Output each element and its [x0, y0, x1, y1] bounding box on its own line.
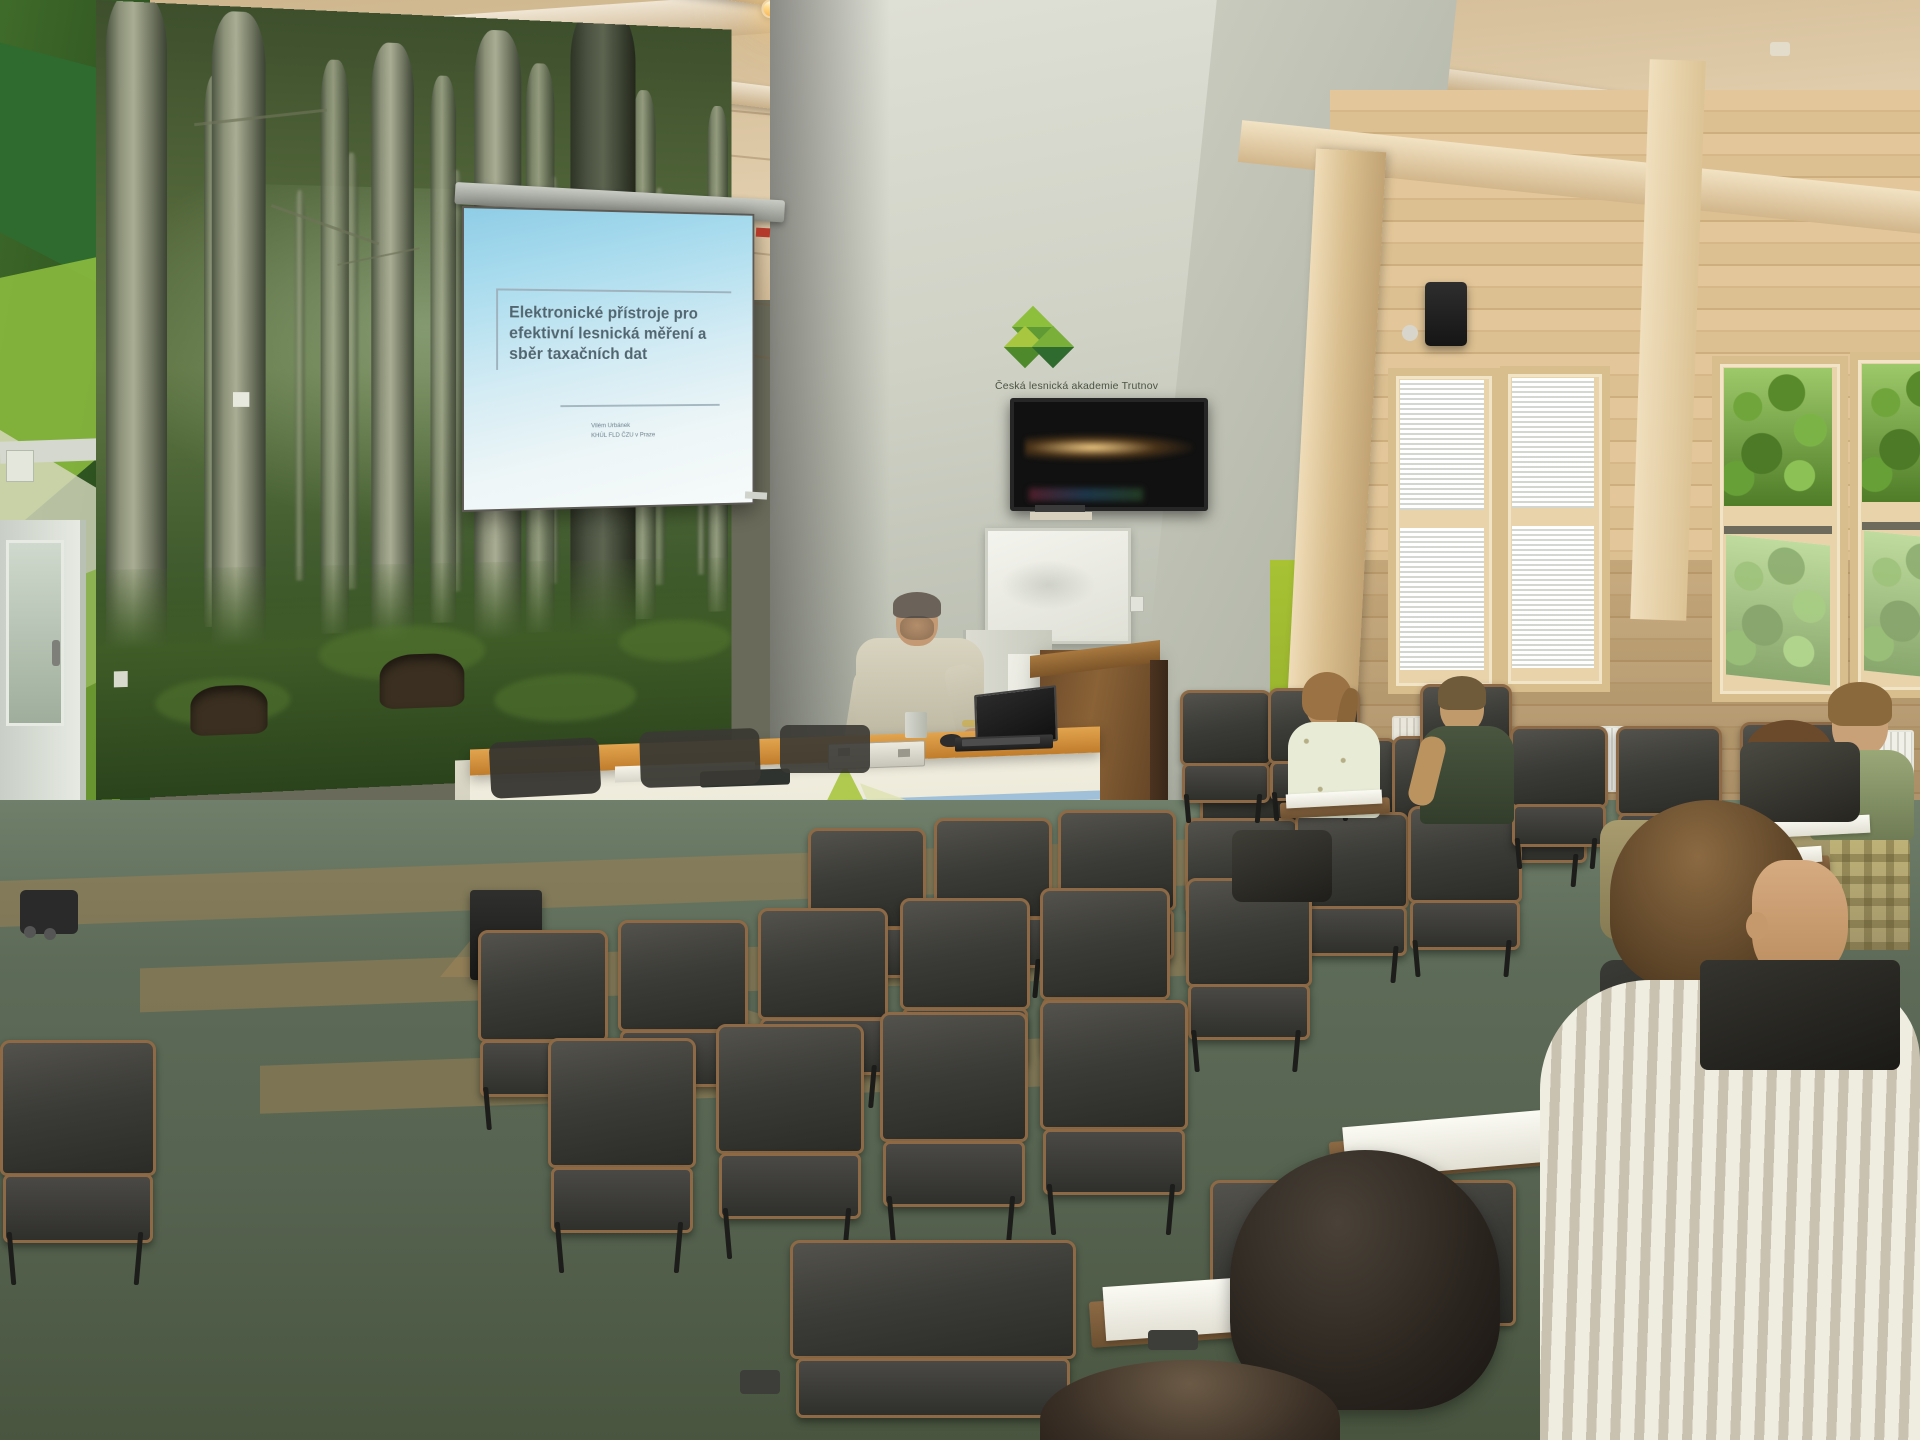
mural-white-mark — [114, 671, 128, 687]
case-latch — [898, 749, 910, 757]
forestry-academy-diamond-logo — [1010, 312, 1080, 370]
student-hair — [1438, 676, 1486, 710]
chair[interactable] — [1186, 878, 1306, 1068]
chair-seat — [883, 1141, 1025, 1207]
tv-screen-glow — [1025, 434, 1192, 461]
woman-hair — [1040, 1360, 1340, 1440]
chair-back — [1180, 690, 1272, 766]
ceiling-fixture-small — [1770, 42, 1790, 56]
slide-title-line-2: efektivní lesnická měření a — [509, 323, 739, 344]
chair-back — [1510, 726, 1608, 808]
woman-ear — [1746, 912, 1768, 940]
loudspeaker — [1425, 282, 1467, 346]
window-view-foliage — [1864, 531, 1920, 682]
chair-seat — [1297, 906, 1407, 956]
mural-tree-stump — [380, 653, 465, 710]
window-pane — [1862, 364, 1920, 502]
slide-rule — [496, 288, 732, 293]
window-view-foliage — [1726, 535, 1830, 686]
flat-screen-tv[interactable] — [1010, 398, 1208, 511]
drinking-cup — [905, 712, 927, 738]
floor-chair-frame — [780, 725, 870, 773]
chair-seat — [1188, 984, 1309, 1039]
chair-back — [880, 1012, 1028, 1142]
dark-equipment-case — [1700, 960, 1900, 1070]
wall-outlet — [1130, 596, 1144, 612]
tv-screen-glow-lower — [1029, 488, 1143, 501]
chair-back — [716, 1024, 864, 1154]
whiteboard-smudge — [1000, 560, 1096, 610]
presenter-hair — [893, 592, 941, 618]
lecture-hall-photograph: Elektronické přístroje pro efektivní les… — [0, 0, 1920, 1440]
window-blinds[interactable] — [1400, 380, 1484, 510]
wall-sign-text: Česká lesnická akademie Trutnov — [995, 380, 1195, 392]
chair[interactable] — [716, 1024, 858, 1254]
window-hinge-bar — [1862, 522, 1920, 530]
student-hair — [1828, 682, 1892, 726]
chair-back — [900, 898, 1030, 1010]
door-handle[interactable] — [52, 640, 60, 666]
window-pane — [1400, 380, 1484, 510]
chair-seat — [796, 1358, 1071, 1419]
slide-rule — [496, 288, 498, 370]
window-hinge-bar — [1724, 526, 1832, 534]
slide-title-line-1: Elektronické přístroje pro — [509, 303, 739, 325]
window-frame — [1500, 366, 1610, 692]
slide-title: Elektronické přístroje pro efektivní les… — [509, 303, 739, 365]
window-pane — [1724, 368, 1832, 506]
window-view-foliage — [1724, 368, 1832, 506]
window-blinds[interactable] — [1400, 528, 1484, 670]
screen-red-marker — [756, 228, 770, 238]
slide-title-line-3: sběr taxačních dat — [509, 344, 739, 365]
chair-back — [758, 908, 888, 1020]
floor-item — [1148, 1330, 1198, 1350]
window-blinds[interactable] — [1512, 526, 1594, 668]
backpack — [1232, 830, 1332, 902]
window-pane-tilted[interactable] — [1864, 531, 1920, 682]
chair-seat — [1043, 1129, 1185, 1195]
projection-screen: Elektronické přístroje pro efektivní les… — [462, 206, 754, 512]
mural-white-mark — [233, 392, 249, 407]
chair-back — [618, 920, 748, 1032]
window-pane — [1400, 528, 1484, 670]
slide-author-affiliation: KHÚL FLD ČZU v Praze — [591, 429, 734, 440]
floor-item — [740, 1370, 780, 1394]
chair-back — [790, 1240, 1076, 1359]
foreground-woman-striped — [1500, 800, 1920, 1440]
window-pane — [1512, 378, 1594, 508]
foreground-woman-white-blouse — [0, 900, 620, 1440]
window-view-foliage — [1862, 364, 1920, 502]
chair[interactable] — [880, 1012, 1022, 1242]
mural-tree-stump — [190, 684, 267, 736]
window-pane-tilted[interactable] — [1726, 535, 1830, 686]
window-frame — [1712, 356, 1848, 702]
window-pane — [1512, 526, 1594, 668]
screen-bottom-clip — [745, 491, 767, 499]
floor-chair-frame — [489, 737, 602, 799]
floor-chair-frame — [639, 728, 761, 788]
door-glass-panel — [6, 540, 64, 726]
window-frame — [1850, 352, 1920, 698]
slide-content: Elektronické přístroje pro efektivní les… — [488, 245, 739, 485]
ceiling-light-dome — [1402, 325, 1418, 341]
foreground-partial-head — [1040, 1360, 1340, 1440]
chair-back — [1040, 1000, 1188, 1130]
slide-rule — [561, 404, 720, 407]
chair-back — [1040, 888, 1170, 1000]
chair[interactable] — [790, 1240, 1070, 1440]
chair-seat — [719, 1153, 861, 1219]
chair[interactable] — [1180, 690, 1266, 820]
tv-shelf — [1030, 512, 1092, 520]
slide-author-block: Vilém Urbánek KHÚL FLD ČZU v Praze — [591, 420, 734, 440]
chair[interactable] — [1040, 1000, 1182, 1230]
presenter-face — [900, 616, 934, 640]
window-frame — [1388, 368, 1500, 694]
wall-notice-plate — [6, 450, 34, 482]
window-blinds[interactable] — [1512, 378, 1594, 508]
